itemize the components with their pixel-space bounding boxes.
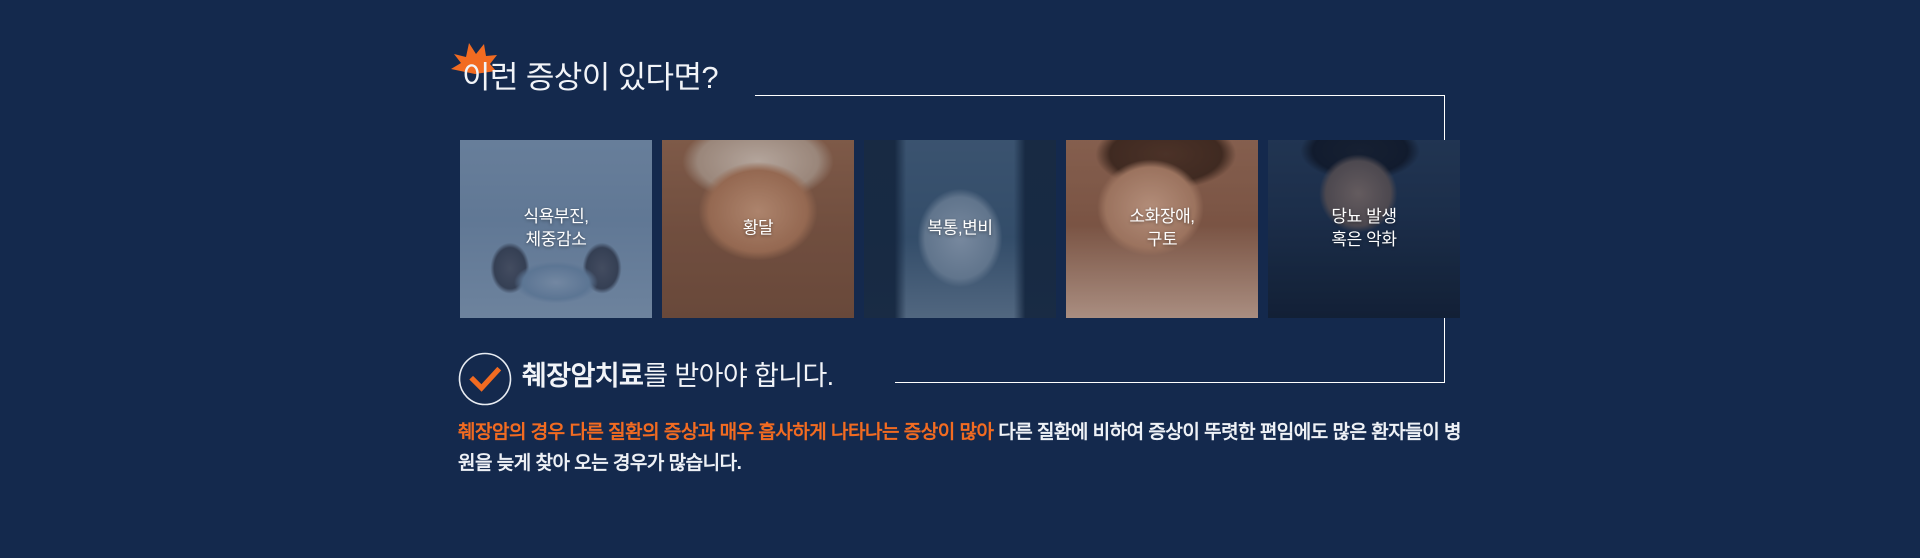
symptom-tile[interactable]: 황달 <box>662 140 854 318</box>
symptom-tile-label: 당뇨 발생 혹은 악화 <box>1268 206 1460 252</box>
symptom-tile[interactable]: 당뇨 발생 혹은 악화 <box>1268 140 1460 318</box>
symptom-tile[interactable]: 식욕부진, 체중감소 <box>460 140 652 318</box>
symptom-tile[interactable]: 복통,변비 <box>864 140 1056 318</box>
bottom-heading: 췌장암치료를 받아야 합니다. <box>522 363 834 390</box>
bottom-heading-strong: 췌장암치료 <box>522 361 643 391</box>
paragraph-accent-text: 췌장암의 경우 다른 질환의 증상과 매우 흡사하게 나타나는 증상이 많아 <box>458 422 993 443</box>
description-paragraph: 췌장암의 경우 다른 질환의 증상과 매우 흡사하게 나타나는 증상이 많아 다… <box>458 418 1468 480</box>
connector-line-bottom <box>895 382 1445 383</box>
symptom-tile-row: 식욕부진, 체중감소 황달 복통,변비 소화장애, 구토 당뇨 발생 혹은 악화 <box>460 140 1466 318</box>
symptom-tile[interactable]: 소화장애, 구토 <box>1066 140 1258 318</box>
check-circle-icon <box>458 352 512 406</box>
symptom-tile-label: 소화장애, 구토 <box>1066 206 1258 252</box>
connector-line-top <box>755 95 1445 96</box>
top-heading: 이런 증상이 있다면? <box>462 62 718 93</box>
bottom-heading-rest: 를 받아야 합니다. <box>643 361 833 391</box>
symptom-tile-label: 복통,변비 <box>864 218 1056 241</box>
top-heading-label: 이런 증상이 있다면? <box>462 62 718 93</box>
symptom-tile-label: 식욕부진, 체중감소 <box>460 206 652 252</box>
symptom-tile-label: 황달 <box>662 218 854 241</box>
promo-banner: 이런 증상이 있다면? 식욕부진, 체중감소 황달 복통,변비 소화장애, 구토 <box>0 0 1920 558</box>
